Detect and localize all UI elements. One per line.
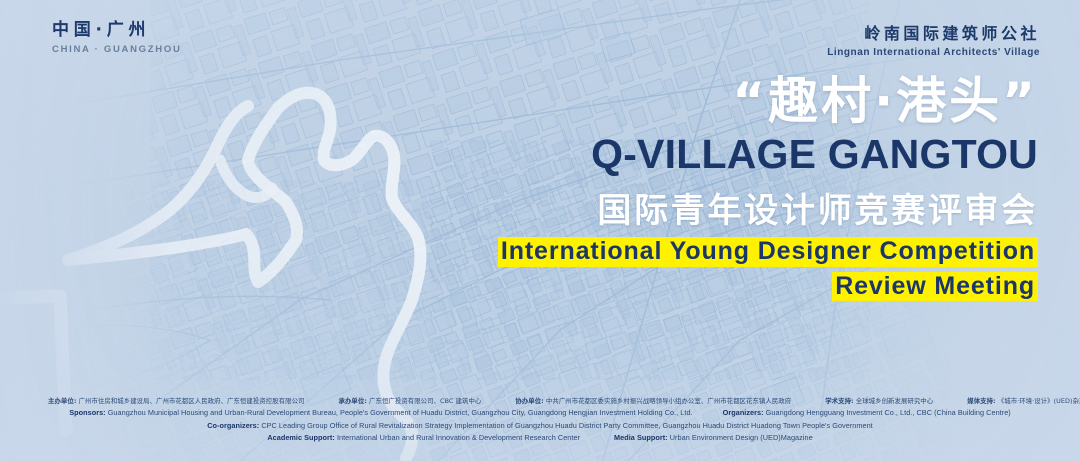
credits-footer: 主办单位: 广州市住房和城乡建设局、广州市花都区人民政府、广东恒建投资控股有限公… [0,397,1080,443]
credit-en-coorganizers: Co-organizers: CPC Leading Group Office … [207,421,873,431]
credit-cn-academic-value: 全球城乡创新发展研究中心 [856,397,933,405]
credit-cn-academic-label: 学术支持: [825,397,853,405]
credits-english-row-1: Sponsors: Guangzhou Municipal Housing an… [0,408,1080,418]
credit-cn-sponsors-value: 广州市住房和城乡建设局、广州市花都区人民政府、广东恒建投资控股有限公司 [79,397,305,405]
subtitle-chinese: 国际青年设计师竞赛评审会 [418,192,1038,231]
credit-en-sponsors: Sponsors: Guangzhou Municipal Housing an… [69,408,692,418]
credit-en-academic: Academic Support: International Urban an… [267,433,580,443]
credit-cn-coorganizers-label: 协办单位: [515,397,543,405]
credit-en-academic-label: Academic Support: [267,433,335,442]
title-english-main: Q-VILLAGE GANGTOU [418,132,1038,178]
credit-cn-media: 媒体支持: 《城市·环境·设计》(UED)杂志社 [967,397,1080,406]
credit-en-coorganizers-value: CPC Leading Group Office of Rural Revita… [261,421,872,430]
credit-cn-organizers-value: 广东恒广投资有限公司、CBC 建筑中心 [369,397,481,405]
credit-en-media: Media Support: Urban Environment Design … [614,433,813,443]
subtitle-english-line2: Review Meeting [832,272,1038,302]
credit-cn-academic: 学术支持: 全球城乡创新发展研究中心 [825,397,933,406]
credits-chinese-row: 主办单位: 广州市住房和城乡建设局、广州市花都区人民政府、广东恒建投资控股有限公… [0,397,1080,406]
credit-cn-sponsors: 主办单位: 广州市住房和城乡建设局、广州市花都区人民政府、广东恒建投资控股有限公… [48,397,304,406]
credit-en-sponsors-label: Sponsors: [69,408,105,417]
credit-cn-media-value: 《城市·环境·设计》(UED)杂志社 [998,397,1080,405]
title-block: “趣村·港头” Q-VILLAGE GANGTOU 国际青年设计师竞赛评审会 I… [418,74,1038,301]
title-chinese-main: “趣村·港头” [418,74,1038,128]
credits-english-row-3: Academic Support: International Urban an… [0,433,1080,443]
subtitle-english-block: International Young Designer Competition… [418,237,1038,301]
credit-en-sponsors-value: Guangzhou Municipal Housing and Urban-Ru… [108,408,693,417]
credit-cn-coorganizers-value: 中共广州市花都区委实施乡村振兴战略领导小组办公室、广州市花都区花东镇人民政府 [546,397,791,405]
organization-chinese: 岭南国际建筑师公社 [827,24,1040,44]
credit-en-media-value: Urban Environment Design (UED)Magazine [670,433,813,442]
poster-banner: 中国·广州 CHINA · GUANGZHOU 岭南国际建筑师公社 Lingna… [0,0,1080,461]
organization-english: Lingnan International Architects' Villag… [827,47,1040,58]
locale-block: 中国·广州 CHINA · GUANGZHOU [52,20,182,55]
credits-english-row-2: Co-organizers: CPC Leading Group Office … [0,421,1080,431]
credit-en-organizers-label: Organizers: [723,408,764,417]
credit-en-organizers-value: Guangdong Hengguang Investment Co., Ltd.… [766,408,1011,417]
credit-cn-organizers: 承办单位: 广东恒广投资有限公司、CBC 建筑中心 [338,397,481,406]
credit-cn-organizers-label: 承办单位: [338,397,366,405]
locale-chinese: 中国·广州 [52,20,182,40]
credit-cn-sponsors-label: 主办单位: [48,397,76,405]
subtitle-english-line1: International Young Designer Competition [498,237,1038,267]
locale-english: CHINA · GUANGZHOU [52,44,182,55]
credit-en-organizers: Organizers: Guangdong Hengguang Investme… [723,408,1011,418]
credit-cn-media-label: 媒体支持: [967,397,995,405]
organization-block: 岭南国际建筑师公社 Lingnan International Architec… [827,24,1040,58]
credit-en-coorganizers-label: Co-organizers: [207,421,259,430]
credit-en-academic-value: International Urban and Rural Innovation… [337,433,580,442]
credit-cn-coorganizers: 协办单位: 中共广州市花都区委实施乡村振兴战略领导小组办公室、广州市花都区花东镇… [515,397,791,406]
credit-en-media-label: Media Support: [614,433,668,442]
